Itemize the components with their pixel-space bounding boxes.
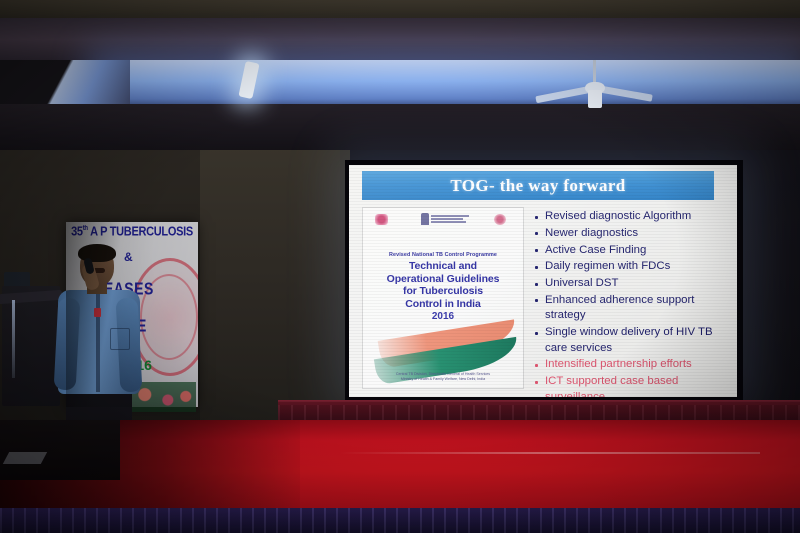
book-title-line: Technical and bbox=[363, 260, 523, 273]
ceiling-cove-light bbox=[96, 60, 800, 110]
speaker-shirt-placket bbox=[96, 292, 100, 392]
wall-panel bbox=[200, 150, 350, 420]
slide-bullet-list: Revised diagnostic Algorithm Newer diagn… bbox=[524, 207, 724, 392]
book-title-line: for Tuberculosis bbox=[363, 285, 523, 298]
slide-body: Revised National TB Control Programme Te… bbox=[362, 207, 724, 392]
presentation-hall-photo: 35th A P TUBERCULOSIS & SEASES ENCE • 20… bbox=[0, 0, 800, 533]
ceiling-fan-icon bbox=[535, 68, 655, 114]
podium-light-strip bbox=[12, 300, 15, 378]
book-title-line: Control in India bbox=[363, 298, 523, 311]
book-subtitle: Revised National TB Control Programme bbox=[363, 252, 523, 258]
list-item: Daily regimen with FDCs bbox=[533, 259, 724, 274]
organization-logo-icon bbox=[494, 214, 506, 225]
bullet-items: Revised diagnostic Algorithm Newer diagn… bbox=[533, 209, 724, 397]
book-footer: Central TB Division, Directorate General… bbox=[363, 372, 523, 382]
floor-left-dark bbox=[0, 420, 120, 480]
fan-blade bbox=[535, 86, 589, 103]
banner-title-line1: 35th A P TUBERCULOSIS bbox=[68, 225, 196, 239]
slide-title: TOG- the way forward bbox=[450, 176, 625, 196]
book-title: Technical and Operational Guidelines for… bbox=[363, 260, 523, 310]
list-item: Universal DST bbox=[533, 276, 724, 291]
book-logo-row bbox=[363, 212, 523, 228]
carpet-seam bbox=[340, 452, 760, 454]
book-year: 2016 bbox=[363, 311, 523, 322]
ceiling-beam bbox=[0, 18, 800, 66]
list-item: ICT supported case based surveillance bbox=[533, 374, 724, 397]
speaker-badge bbox=[94, 308, 101, 317]
book-cover-image: Revised National TB Control Programme Te… bbox=[362, 207, 524, 389]
stage-skirt-folds bbox=[0, 508, 800, 533]
projection-screen: TOG- the way forward Revised National TB… bbox=[345, 160, 743, 402]
list-item: Single window delivery of HIV TB care se… bbox=[533, 325, 724, 356]
fan-rod bbox=[593, 60, 596, 84]
paper-on-floor bbox=[3, 452, 47, 464]
emblem-logo-icon bbox=[375, 214, 388, 225]
banner-title-rest: A P TUBERCULOSIS bbox=[88, 225, 193, 239]
podium bbox=[2, 286, 60, 406]
list-item: Revised diagnostic Algorithm bbox=[533, 209, 724, 224]
list-item: Active Case Finding bbox=[533, 243, 724, 258]
ministry-of-health-logo-icon bbox=[421, 212, 473, 226]
presentation-slide: TOG- the way forward Revised National TB… bbox=[349, 165, 737, 397]
list-item: Enhanced adherence support strategy bbox=[533, 293, 724, 324]
banner-ordinal: 35 bbox=[71, 225, 83, 239]
book-title-line: Operational Guidelines bbox=[363, 273, 523, 286]
slide-title-bar: TOG- the way forward bbox=[362, 171, 714, 200]
speaker-shirt-pocket bbox=[110, 328, 130, 350]
national-emblem-icon bbox=[421, 213, 429, 225]
fan-motor bbox=[588, 90, 602, 108]
list-item: Intensified partnership efforts bbox=[533, 357, 724, 372]
book-footer-line2: Ministry of Health & Family Welfare, New… bbox=[363, 377, 523, 382]
ministry-logo-text bbox=[431, 215, 473, 224]
list-item: Newer diagnostics bbox=[533, 226, 724, 241]
